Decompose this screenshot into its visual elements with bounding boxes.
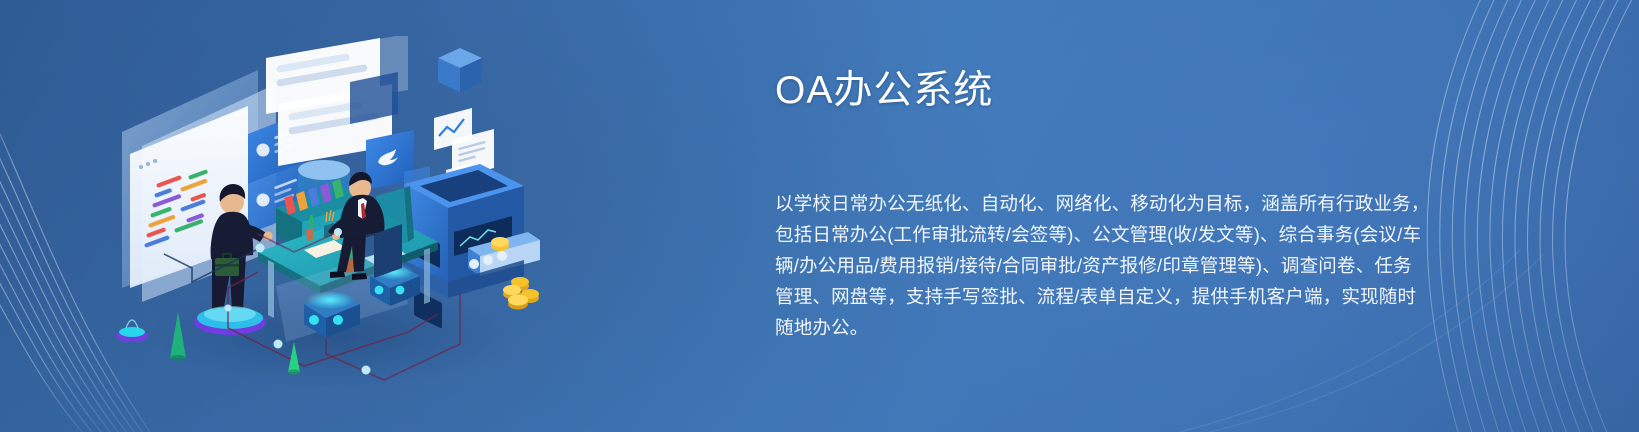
oa-system-banner: OA办公系统 以学校日常办公无纸化、自动化、网络化、移动化为目标，涵盖所有行政业… (0, 0, 1639, 432)
dome-glow (119, 327, 145, 337)
window-dot (139, 165, 143, 169)
banner-description: 以学校日常办公无纸化、自动化、网络化、移动化为目标，涵盖所有行政业务， 包括日常… (775, 188, 1475, 343)
banner-copy: OA办公系统 以学校日常办公无纸化、自动化、网络化、移动化为目标，涵盖所有行政业… (775, 66, 1475, 343)
description-line-3: 辆/办公用品/费用报销/接待/合同审批/资产报修/印章管理等)、调查问卷、任务 (775, 250, 1475, 281)
description-line-2: 包括日常办公(工作审批流转/会签等)、公文管理(收/发文等)、综合事务(会议/车 (775, 219, 1475, 250)
desk-leg (424, 248, 430, 304)
dome-beam (126, 320, 138, 328)
cylinder-bin-top (298, 160, 350, 180)
description-line-4: 管理、网盘等，支持手写签批、流程/表单自定义，提供手机客户端，实现随时 (775, 281, 1475, 312)
window-dot (146, 162, 150, 166)
description-line-1: 以学校日常办公无纸化、自动化、网络化、移动化为目标，涵盖所有行政业务， (775, 188, 1475, 219)
desk-leg (268, 260, 274, 318)
description-line-5: 随地办公。 (775, 312, 1475, 343)
isometric-office-illustration (108, 36, 548, 396)
page-title: OA办公系统 (775, 66, 1475, 116)
window-dot (153, 159, 157, 163)
